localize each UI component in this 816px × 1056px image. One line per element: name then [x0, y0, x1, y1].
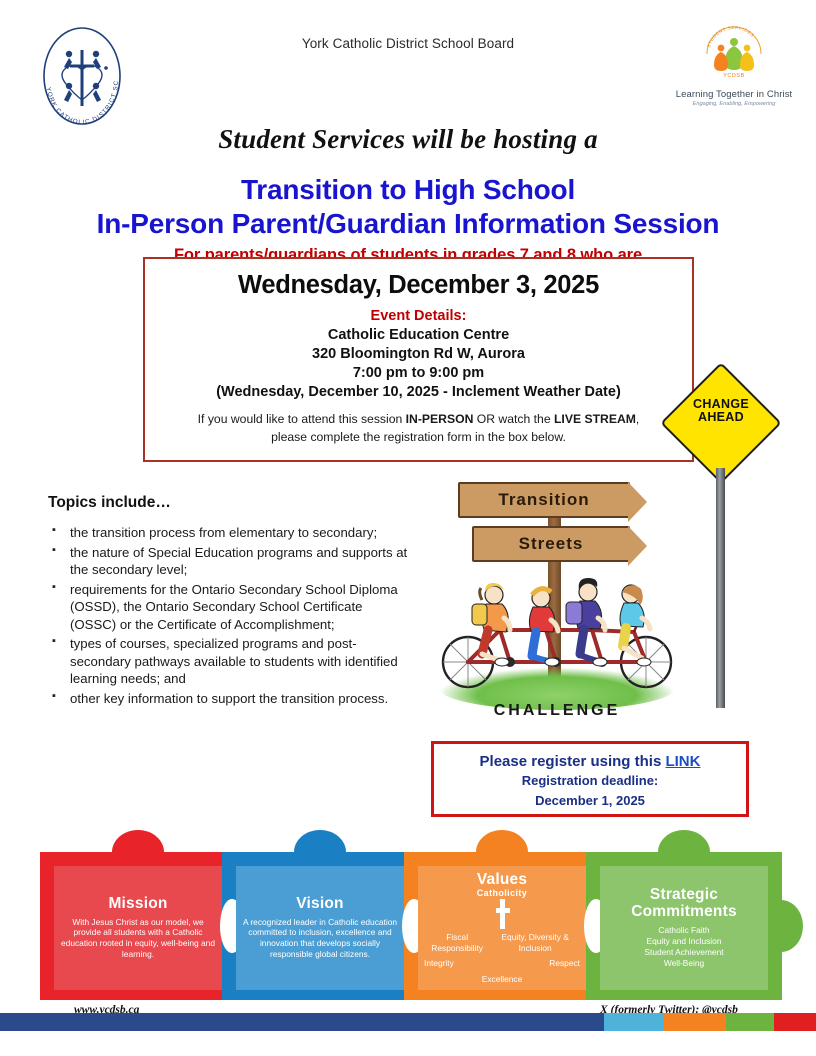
event-details-box: Wednesday, December 3, 2025 Event Detail…: [143, 257, 694, 462]
footer-bar: [604, 1013, 664, 1031]
transition-sign-label: Transition: [498, 490, 589, 510]
change-ahead-road-sign: CHANGE AHEAD: [672, 380, 780, 720]
value-excellence: Excellence: [482, 974, 523, 985]
footer-bar: [0, 1013, 604, 1031]
values-catholicity-label: Catholicity: [477, 888, 527, 898]
registration-deadline-label: Registration deadline:: [434, 773, 746, 790]
registration-link[interactable]: LINK: [665, 753, 700, 770]
value-integrity: Integrity: [424, 958, 454, 969]
list-item: other key information to support the tra…: [48, 690, 408, 708]
puzzle-body-text: A recognized leader in Catholic educatio…: [242, 917, 398, 961]
puzzle-inner-vision: Vision A recognized leader in Catholic e…: [236, 866, 404, 990]
transition-street-sign: Transition: [458, 482, 630, 518]
puzzle-piece-vision: Vision A recognized leader in Catholic e…: [222, 852, 418, 1000]
puzzle-inner-values: Values Catholicity Fiscal Responsibility…: [418, 866, 586, 990]
cross-icon: [496, 899, 509, 929]
puzzle-inner-strategic: Strategic Commitments Catholic Faith Equ…: [600, 866, 768, 990]
logo-subtagline: Engaging, Enabling, Empowering: [674, 101, 794, 107]
puzzle-piece-mission: Mission With Jesus Christ as our model, …: [40, 852, 236, 1000]
value-respect: Respect: [549, 958, 580, 969]
event-note-line-2: please complete the registration form in…: [145, 429, 692, 447]
topics-section: Topics include… the transition process f…: [48, 494, 408, 709]
event-alternate-date: (Wednesday, December 10, 2025 - Inclemen…: [145, 384, 692, 400]
svg-text:STUDENT SERVICES: STUDENT SERVICES: [706, 25, 756, 48]
event-note-in-person: IN-PERSON: [406, 412, 474, 426]
transition-streets-illustration: Transition Streets: [432, 462, 682, 724]
list-item: the nature of Special Education programs…: [48, 544, 408, 579]
event-note-pre: If you would like to attend this session: [198, 412, 406, 426]
sign-pole: [716, 468, 725, 708]
sign-arrow-icon: [628, 482, 647, 522]
footer-bar: [774, 1013, 816, 1031]
svg-text:YCDSB: YCDSB: [723, 73, 745, 79]
tandem-bike-riders-graphic: [438, 570, 676, 690]
puzzle-piece-values: Values Catholicity Fiscal Responsibility…: [404, 852, 600, 1000]
values-grid: Fiscal Responsibility Equity, Diversity …: [424, 932, 580, 984]
value-fiscal-responsibility: Fiscal Responsibility: [424, 932, 490, 953]
event-details-label: Event Details:: [145, 308, 692, 324]
registration-prompt-text: Please register using this: [480, 753, 666, 770]
puzzle-body-text: Catholic Faith Equity and Inclusion Stud…: [644, 925, 723, 969]
event-address: 320 Bloomington Rd W, Aurora: [145, 346, 692, 362]
puzzle-inner-mission: Mission With Jesus Christ as our model, …: [54, 866, 222, 990]
illustration-caption: CHALLENGE: [432, 702, 682, 720]
page-header: YORK CATHOLIC DISTRICT SCHOOL BOARD York…: [0, 0, 816, 132]
sign-arrow-icon: [628, 526, 647, 566]
logo-tagline: Learning Together in Christ: [674, 89, 794, 100]
event-note: If you would like to attend this session…: [145, 411, 692, 446]
puzzle-title: Mission: [108, 896, 167, 913]
list-item: the transition process from elementary t…: [48, 524, 408, 542]
event-venue: Catholic Education Centre: [145, 327, 692, 343]
registration-box[interactable]: Please register using this LINK Registra…: [431, 741, 749, 817]
footer-color-bars: [0, 1013, 816, 1031]
puzzle-title: Values: [477, 872, 527, 889]
title-line-1: Transition to High School: [0, 173, 816, 207]
event-time: 7:00 pm to 9:00 pm: [145, 365, 692, 381]
puzzle-piece-strategic-commitments: Strategic Commitments Catholic Faith Equ…: [586, 852, 782, 1000]
streets-sign-label: Streets: [519, 534, 584, 554]
footer-bar: [664, 1013, 726, 1031]
diamond-sign-text: CHANGE AHEAD: [672, 398, 770, 424]
title-line-2: In-Person Parent/Guardian Information Se…: [0, 207, 816, 241]
registration-deadline-date: December 1, 2025: [434, 793, 746, 810]
footer-bar: [726, 1013, 774, 1031]
event-note-post: ,: [636, 412, 639, 426]
event-note-live-stream: LIVE STREAM: [554, 412, 636, 426]
topics-heading: Topics include…: [48, 494, 408, 512]
puzzle-title: Vision: [296, 896, 343, 913]
mission-vision-values-puzzle: Mission With Jesus Christ as our model, …: [40, 828, 776, 1008]
event-date: Wednesday, December 3, 2025: [145, 271, 692, 300]
list-item: types of courses, specialized programs a…: [48, 635, 408, 688]
puzzle-title: Strategic Commitments: [606, 887, 762, 920]
road-sign-line-2: AHEAD: [672, 411, 770, 424]
value-equity-diversity-inclusion: Equity, Diversity & Inclusion: [490, 932, 580, 953]
streets-street-sign: Streets: [472, 526, 630, 562]
student-services-logo: STUDENT SERVICES YCDSB Learning Together…: [674, 20, 794, 107]
event-note-mid: OR watch the: [473, 412, 554, 426]
registration-prompt: Please register using this LINK: [434, 753, 746, 770]
list-item: requirements for the Ontario Secondary S…: [48, 581, 408, 634]
puzzle-body-text: With Jesus Christ as our model, we provi…: [60, 917, 216, 961]
topics-list: the transition process from elementary t…: [48, 524, 408, 707]
